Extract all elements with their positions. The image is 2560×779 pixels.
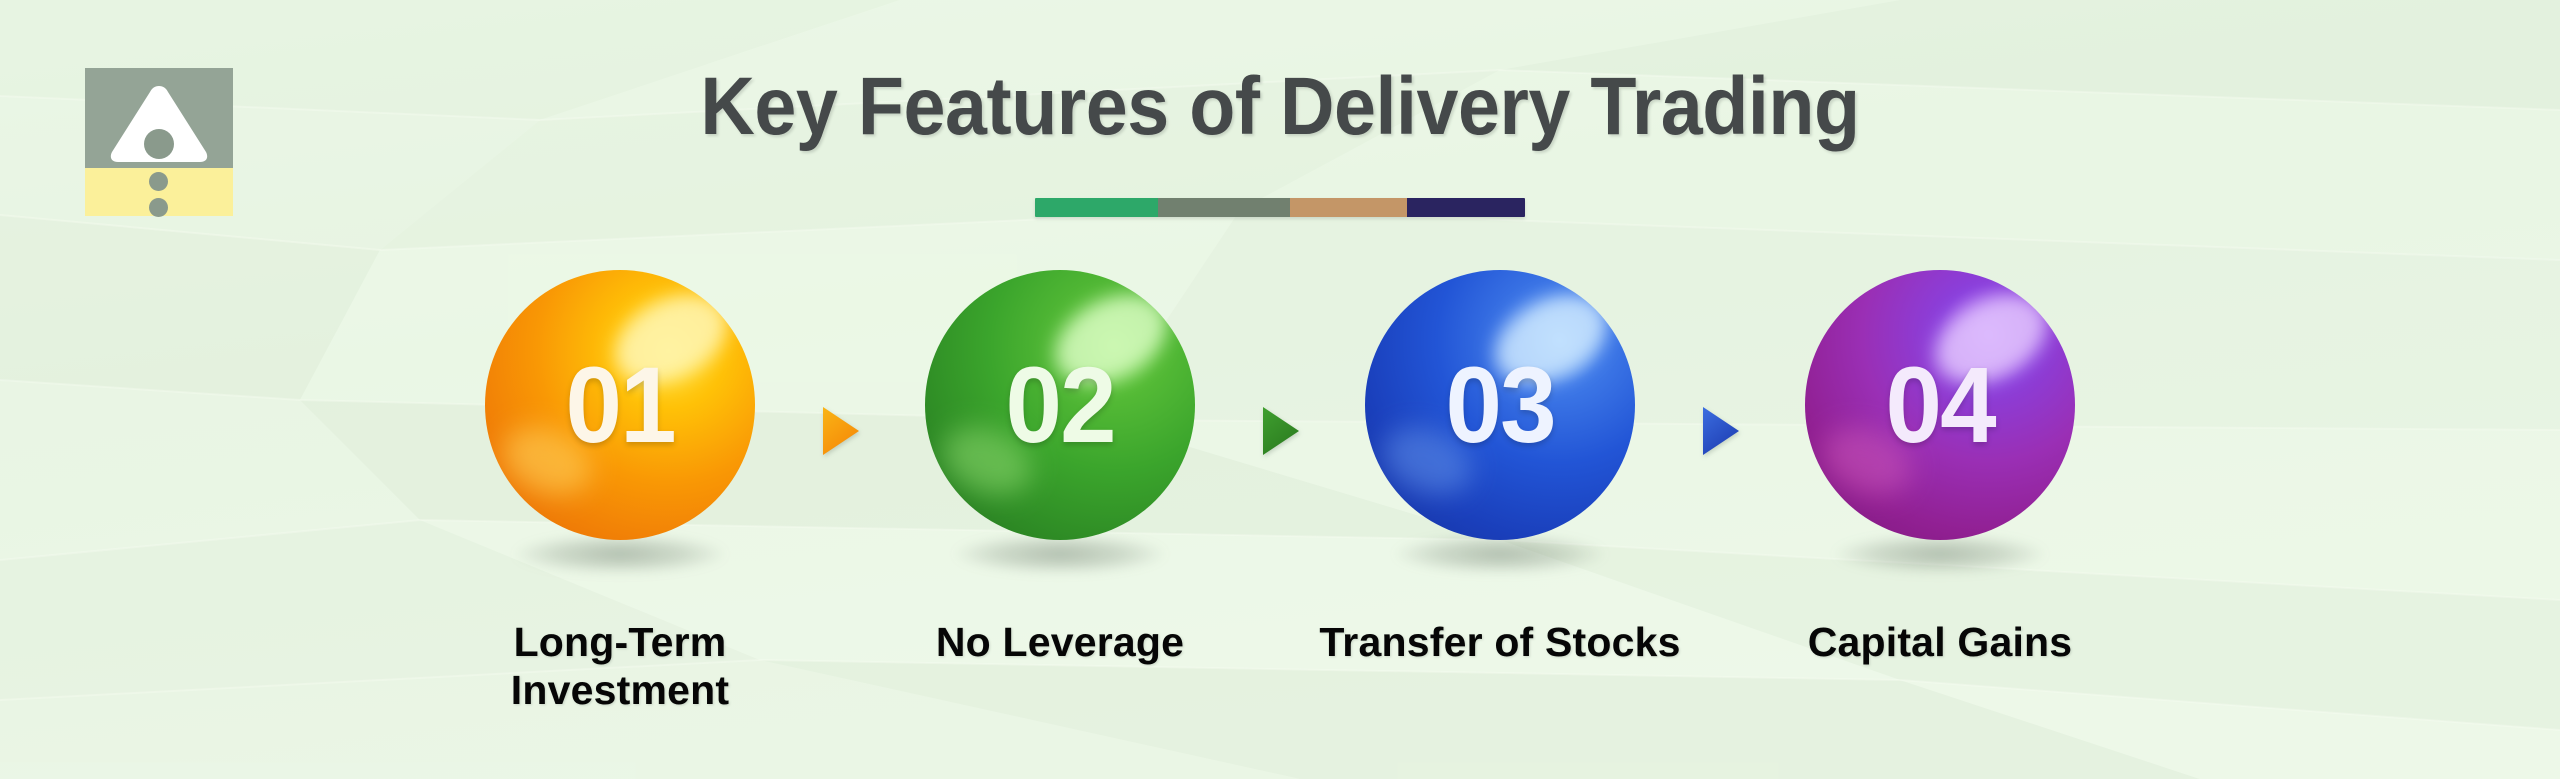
step-number-label: 04 <box>1885 351 1994 459</box>
number-sphere-02[interactable]: 02 <box>925 270 1195 540</box>
sphere-wrap-01: 01 <box>485 270 755 540</box>
number-sphere-03[interactable]: 03 <box>1365 270 1635 540</box>
step-number-label: 03 <box>1445 351 1554 459</box>
segment-gray <box>1158 198 1290 217</box>
sphere-wrap-03: 03 <box>1365 270 1635 540</box>
logo-dot-lower <box>149 198 168 217</box>
step-03[interactable]: 03Transfer of Stocks <box>1280 270 1720 666</box>
chevron-right-icon <box>821 405 861 457</box>
segment-navy <box>1407 198 1525 217</box>
chevron-right-icon <box>1701 405 1741 457</box>
step-number-label: 01 <box>565 351 674 459</box>
page-title: Key Features of Delivery Trading <box>700 60 1859 154</box>
sphere-shadow <box>1834 534 2046 574</box>
step-01[interactable]: 01Long-Term Investment <box>400 270 840 715</box>
step-title: No Leverage <box>936 618 1184 666</box>
sphere-shadow <box>514 534 726 574</box>
step-02[interactable]: 02No Leverage <box>840 270 1280 666</box>
segment-tan <box>1290 198 1408 217</box>
sphere-shadow <box>1394 534 1606 574</box>
sphere-wrap-04: 04 <box>1805 270 2075 540</box>
step-04[interactable]: 04Capital Gains <box>1720 270 2160 666</box>
chevron-right-icon <box>1261 405 1301 457</box>
sphere-wrap-02: 02 <box>925 270 1195 540</box>
number-sphere-01[interactable]: 01 <box>485 270 755 540</box>
step-title: Capital Gains <box>1808 618 2073 666</box>
step-title: Transfer of Stocks <box>1319 618 1680 666</box>
title-divider <box>1035 198 1525 217</box>
page-title-wrap: Key Features of Delivery Trading <box>0 60 2560 154</box>
steps-row: 01Long-Term Investment02No Leverage03Tra… <box>0 270 2560 715</box>
infographic-canvas: Key Features of Delivery Trading 01Long-… <box>0 0 2560 779</box>
step-title: Long-Term Investment <box>511 618 729 715</box>
step-number-label: 02 <box>1005 351 1114 459</box>
sphere-shadow <box>954 534 1166 574</box>
logo-dot-upper <box>149 172 168 191</box>
segment-green <box>1035 198 1158 217</box>
number-sphere-04[interactable]: 04 <box>1805 270 2075 540</box>
